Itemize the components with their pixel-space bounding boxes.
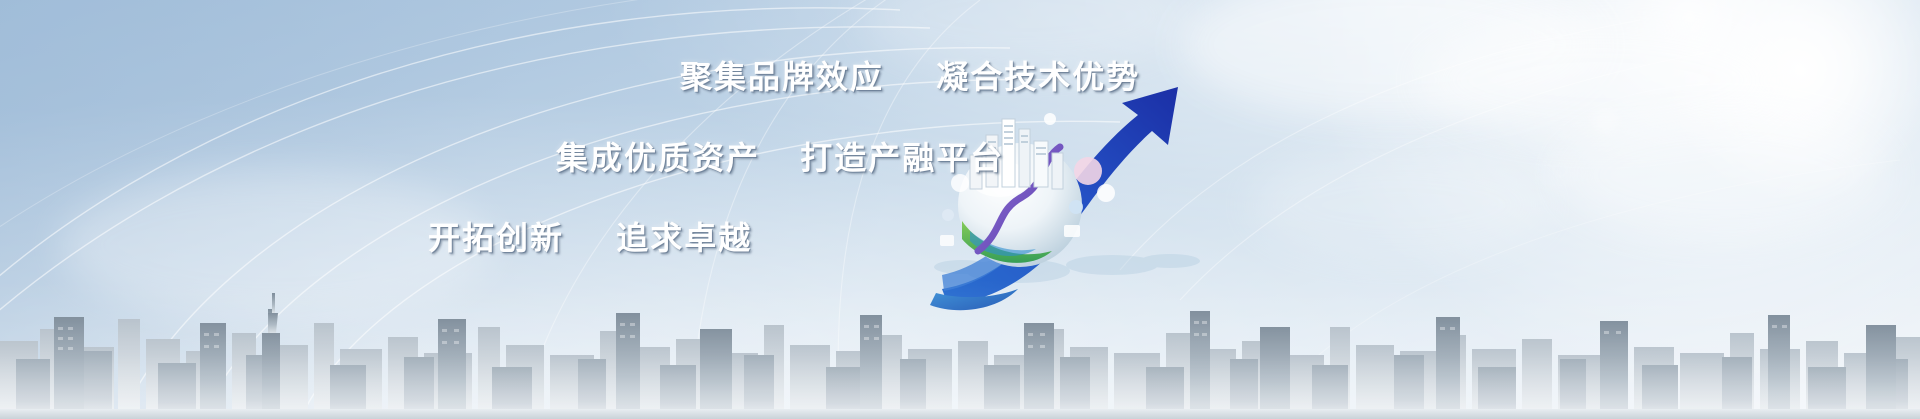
hero-banner: 聚集品牌效应 凝合技术优势 集成优质资产 打造产融平台 开拓创新 追求卓越: [0, 0, 1920, 419]
city-skyline-silhouette: [0, 289, 1920, 419]
skyline-far-layer: [0, 319, 1920, 419]
ground-strip: [0, 409, 1920, 419]
globe-arrow-artwork: [900, 75, 1220, 315]
